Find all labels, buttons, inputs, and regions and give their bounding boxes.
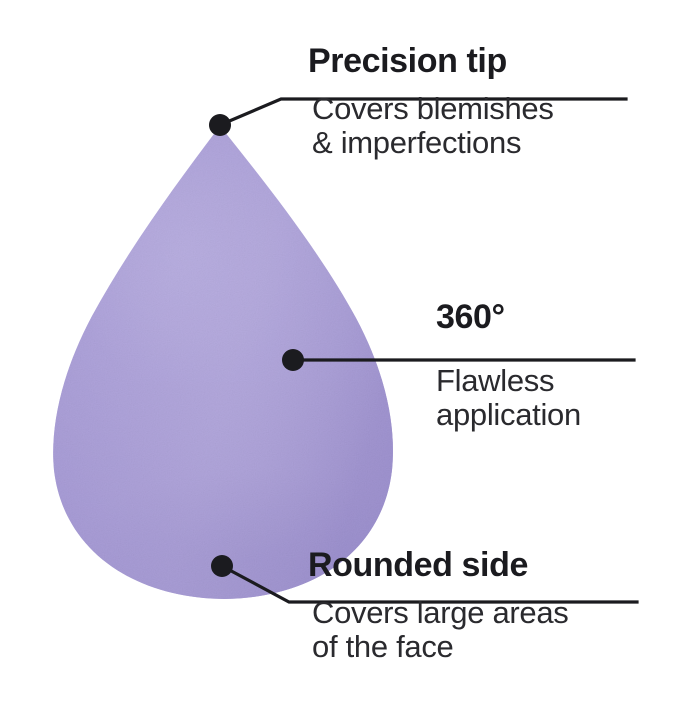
callout-title-rounded-side: Rounded side	[308, 548, 658, 582]
callout-title-precision-tip: Precision tip	[308, 44, 648, 78]
callout-precision-tip: Precision tip Covers blemishes & imperfe…	[308, 44, 648, 160]
callout-360: 360° Flawless application	[434, 300, 644, 432]
callout-body-360: Flawless application	[436, 364, 644, 432]
infographic-canvas: Precision tip Covers blemishes & imperfe…	[0, 0, 688, 726]
dot-marker-rounded-side	[211, 555, 233, 577]
callout-body-rounded-side: Covers large areas of the face	[312, 596, 658, 664]
callout-body-precision-tip: Covers blemishes & imperfections	[312, 92, 648, 160]
callout-rounded-side: Rounded side Covers large areas of the f…	[308, 548, 658, 664]
dot-marker-360	[282, 349, 304, 371]
callout-title-360: 360°	[436, 300, 644, 334]
dot-marker-precision-tip	[209, 114, 231, 136]
